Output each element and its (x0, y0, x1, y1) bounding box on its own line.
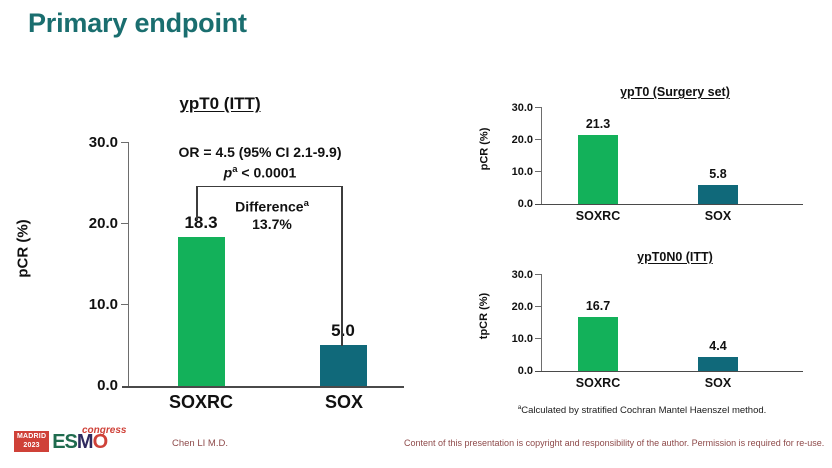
t0n0-chart-tick-20 (535, 306, 542, 307)
main-chart-bar-soxrc (178, 237, 225, 386)
main-chart-x-axis (122, 386, 404, 388)
surgery-chart-category-soxrc: SOXRC (558, 209, 638, 223)
main-chart-y-axis (128, 142, 129, 387)
t0n0-chart-bar-soxrc (578, 317, 618, 371)
surgery-chart-tick-20 (535, 139, 542, 140)
surgery-chart-tick-10 (535, 171, 542, 172)
main-chart-category-soxrc: SOXRC (151, 392, 251, 413)
copyright-notice: Content of this presentation is copyrigh… (404, 438, 824, 448)
t0n0-chart-category-soxrc: SOXRC (558, 376, 638, 390)
surgery-chart-y-axis-label: pCR (%) (478, 128, 490, 171)
main-chart-y-axis-label: pCR (%) (15, 219, 32, 277)
t0n0-chart-bar-sox (698, 357, 738, 371)
main-chart-ytick-20: 20.0 (56, 215, 118, 232)
main-chart-tick-10 (121, 304, 129, 305)
footnote-text: Calculated by stratified Cochran Mantel … (521, 405, 766, 416)
main-chart-difference-value: 13.7% (207, 216, 337, 232)
madrid-2023-badge: MADRID 2023 (14, 431, 49, 452)
surgery-chart-tick-30 (535, 107, 542, 108)
congress-wordmark: congress (82, 425, 126, 436)
chart-ypt0-surgery-set: ypT0 (Surgery set) pCR (%) 30.0 20.0 10.… (455, 85, 832, 245)
p-symbol: p (224, 165, 233, 181)
surgery-chart-x-axis (535, 204, 803, 205)
t0n0-chart-y-axis-label: tpCR (%) (478, 293, 490, 339)
main-chart-ytick-0: 0.0 (56, 377, 118, 394)
presenter-name: Chen LI M.D. (172, 438, 228, 449)
surgery-chart-bar-sox (698, 185, 738, 204)
madrid-badge-year: 2023 (17, 442, 46, 451)
difference-superscript: a (304, 198, 309, 209)
t0n0-chart-tick-10 (535, 338, 542, 339)
main-chart-ytick-10: 10.0 (56, 296, 118, 313)
surgery-chart-category-sox: SOX (678, 209, 758, 223)
main-chart-tick-20 (121, 223, 129, 224)
main-chart-tick-30 (121, 142, 129, 143)
chart-title-ypt0-itt: ypT0 (ITT) (110, 94, 330, 114)
t0n0-chart-ytick-20: 20.0 (493, 301, 533, 313)
surgery-chart-ytick-0: 0.0 (493, 198, 533, 210)
main-chart-value-sox: 5.0 (308, 321, 378, 341)
surgery-chart-y-axis (541, 107, 542, 205)
esmo-congress-logo: MADRID 2023 ESMO congress (14, 428, 107, 452)
main-chart-bar-sox (320, 345, 367, 386)
difference-text: Difference (235, 199, 303, 215)
main-chart-difference-label: Differencea (207, 198, 337, 215)
surgery-chart-bar-soxrc (578, 135, 618, 204)
t0n0-chart-ytick-30: 30.0 (493, 269, 533, 281)
esmo-letters-es: ES (52, 431, 77, 453)
madrid-badge-city: MADRID (17, 433, 46, 442)
t0n0-chart-tick-30 (535, 274, 542, 275)
t0n0-chart-value-soxrc: 16.7 (568, 299, 628, 313)
chart-title-ypt0n0-itt: ypT0N0 (ITT) (575, 250, 775, 264)
slide-canvas: Primary endpoint ypT0 (ITT) pCR (%) 30.0… (0, 0, 832, 468)
surgery-chart-value-soxrc: 21.3 (568, 117, 628, 131)
t0n0-chart-value-sox: 4.4 (688, 339, 748, 353)
chart-ypt0-itt: ypT0 (ITT) pCR (%) 30.0 20.0 10.0 0.0 18… (0, 80, 450, 420)
main-chart-bracket-left-stem (196, 186, 198, 220)
surgery-chart-ytick-20: 20.0 (493, 134, 533, 146)
main-chart-bracket-right-stem (341, 186, 343, 346)
t0n0-chart-ytick-10: 10.0 (493, 333, 533, 345)
main-chart-odds-ratio: OR = 4.5 (95% CI 2.1-9.9) (130, 144, 390, 160)
main-chart-ytick-30: 30.0 (56, 134, 118, 151)
p-value-text: < 0.0001 (238, 165, 297, 181)
t0n0-chart-y-axis (541, 274, 542, 372)
t0n0-chart-ytick-0: 0.0 (493, 365, 533, 377)
surgery-chart-value-sox: 5.8 (688, 167, 748, 181)
page-title: Primary endpoint (28, 8, 247, 39)
surgery-chart-ytick-10: 10.0 (493, 166, 533, 178)
main-chart-category-sox: SOX (294, 392, 394, 413)
surgery-chart-ytick-30: 30.0 (493, 102, 533, 114)
t0n0-chart-x-axis (535, 371, 803, 372)
footnote: aCalculated by stratified Cochran Mantel… (462, 404, 822, 416)
t0n0-chart-category-sox: SOX (678, 376, 758, 390)
main-chart-p-value: pa < 0.0001 (130, 164, 390, 181)
slide-footer: MADRID 2023 ESMO congress Chen LI M.D. C… (0, 424, 832, 468)
chart-title-ypt0-surgery-set: ypT0 (Surgery set) (575, 85, 775, 99)
chart-ypt0n0-itt: ypT0N0 (ITT) tpCR (%) 30.0 20.0 10.0 0.0… (455, 250, 832, 410)
